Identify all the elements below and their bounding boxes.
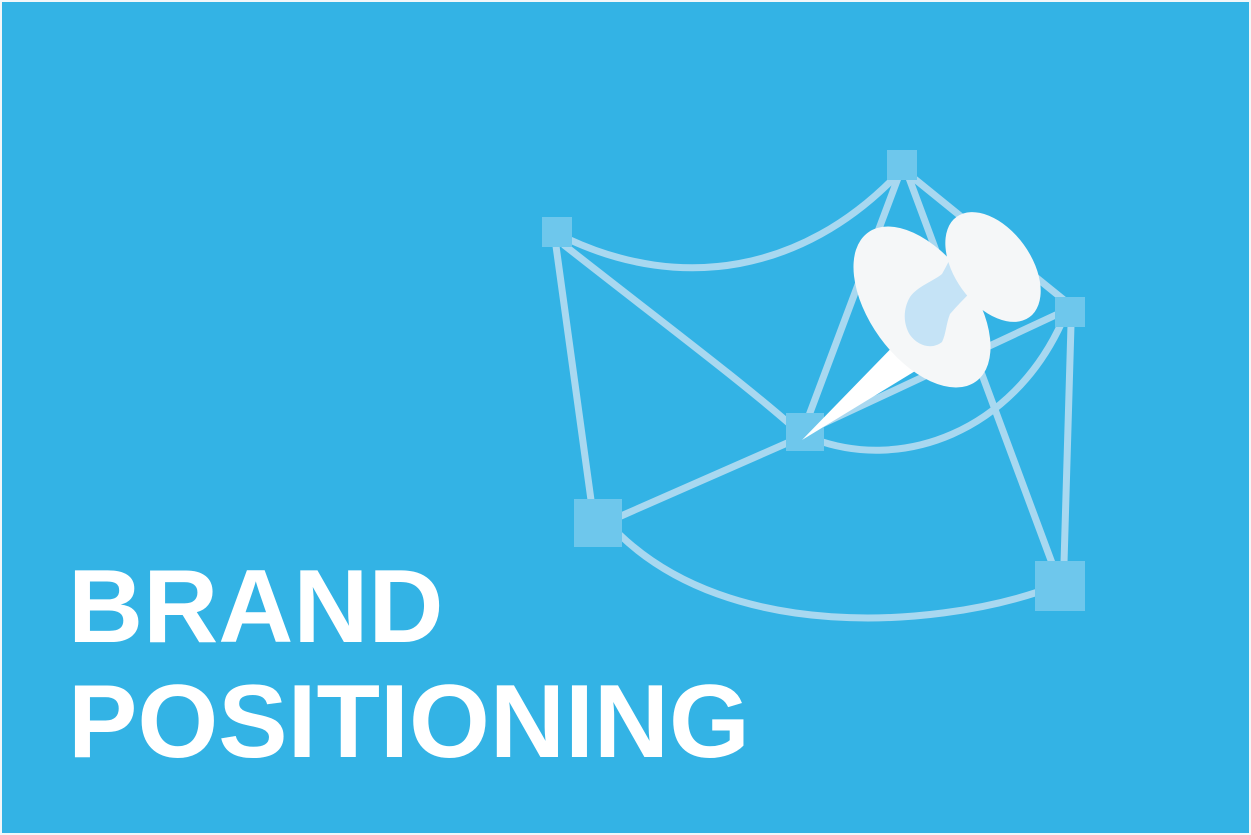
link-topleft-top <box>568 177 895 268</box>
pin-needle-icon <box>802 332 930 440</box>
link-center-right-curve <box>814 322 1062 450</box>
push-pin <box>802 195 1060 440</box>
pin-head-disc <box>926 195 1060 340</box>
link-center-bottomleft <box>621 440 794 516</box>
link-top-center <box>808 178 898 418</box>
node-right[interactable] <box>1055 297 1085 327</box>
link-top-right <box>911 176 1064 300</box>
page-title: BRAND POSITIONING <box>68 550 828 780</box>
link-right-bottomright <box>1064 325 1071 563</box>
link-center-right <box>818 313 1060 426</box>
pin-shaft <box>905 234 995 346</box>
link-top-bottomright <box>909 178 1052 563</box>
headline-line-2: POSITIONING <box>68 665 828 780</box>
node-bottom-right[interactable] <box>1035 561 1085 611</box>
headline-line-1: BRAND <box>68 550 828 665</box>
node-center[interactable] <box>786 413 824 451</box>
network-nodes <box>542 150 1085 611</box>
poster-canvas: BRAND POSITIONING <box>0 0 1251 835</box>
node-top-left[interactable] <box>542 217 572 247</box>
link-topleft-center <box>564 245 792 426</box>
pin-base-disc <box>826 202 1018 412</box>
link-topleft-bottomleft <box>556 246 591 500</box>
node-top[interactable] <box>887 150 917 180</box>
node-bottom-left[interactable] <box>574 499 622 547</box>
